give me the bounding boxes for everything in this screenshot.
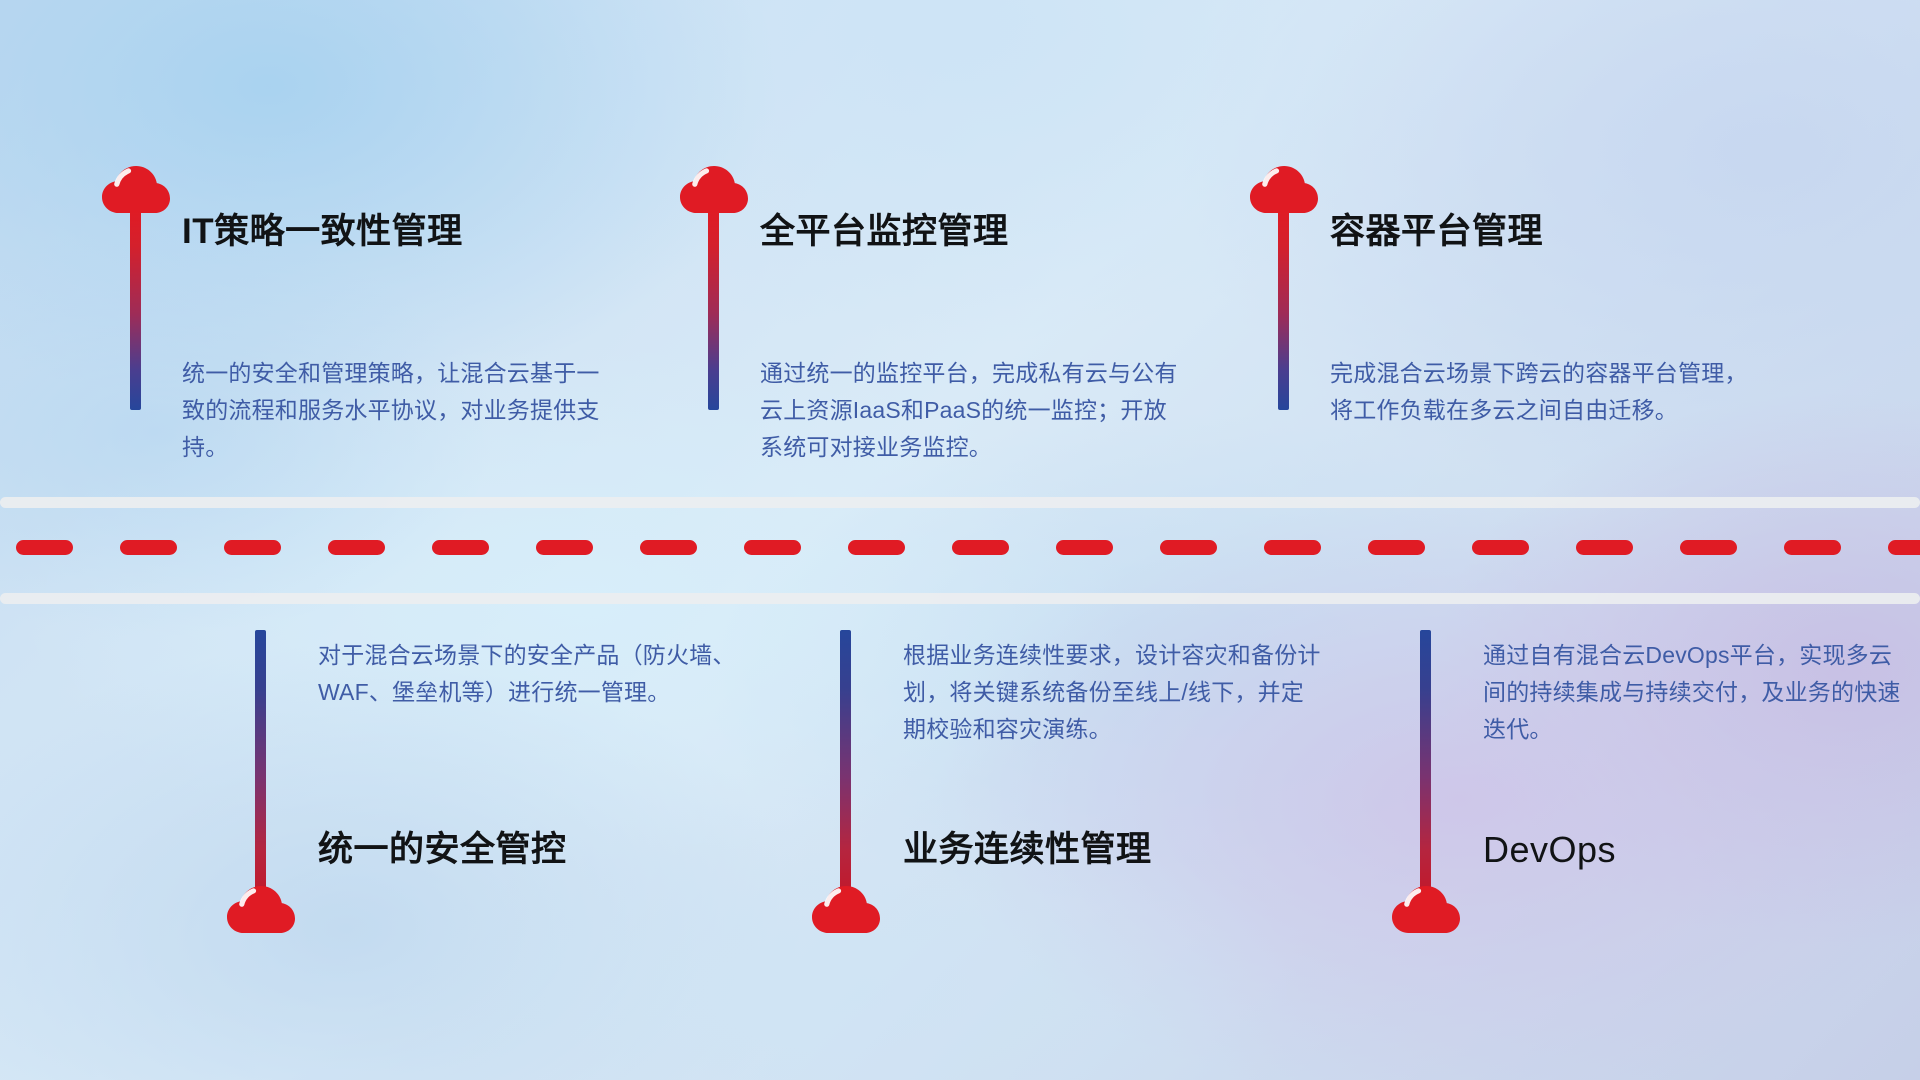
milestone-title: 全平台监控管理	[760, 214, 1009, 249]
milestone-stem	[130, 210, 141, 410]
milestone-title: 业务连续性管理	[903, 832, 1152, 867]
milestone-description: 通过统一的监控平台，完成私有云与公有云上资源IaaS和PaaS的统一监控；开放系…	[760, 355, 1180, 466]
road-dash-segment	[1680, 540, 1737, 555]
cloud-icon	[225, 880, 295, 936]
road-dash-segment	[16, 540, 73, 555]
milestone-description: 统一的安全和管理策略，让混合云基于一致的流程和服务水平协议，对业务提供支持。	[182, 355, 602, 466]
road-dash-segment	[432, 540, 489, 555]
milestone-title: 统一的安全管控	[318, 832, 567, 867]
road-dash-segment	[224, 540, 281, 555]
cloud-icon	[1248, 160, 1318, 216]
milestone-stem	[840, 630, 851, 898]
milestone-title: 容器平台管理	[1330, 214, 1543, 249]
road-dash-segment	[952, 540, 1009, 555]
cloud-icon	[100, 160, 170, 216]
road-center-dashed-line	[0, 540, 1920, 555]
road-dash-segment	[1056, 540, 1113, 555]
milestone-description: 对于混合云场景下的安全产品（防火墙、WAF、堡垒机等）进行统一管理。	[318, 637, 738, 711]
milestone-stem	[1420, 630, 1431, 898]
milestone-stem	[1278, 210, 1289, 410]
road-dash-segment	[1264, 540, 1321, 555]
cloud-icon	[810, 880, 880, 936]
milestone-stem	[708, 210, 719, 410]
milestone-description: 完成混合云场景下跨云的容器平台管理，将工作负载在多云之间自由迁移。	[1330, 355, 1750, 429]
road-dash-segment	[1160, 540, 1217, 555]
milestone-title: IT策略一致性管理	[182, 214, 463, 249]
cloud-icon	[1390, 880, 1460, 936]
road-dash-segment	[1888, 540, 1920, 555]
milestone-description: 通过自有混合云DevOps平台，实现多云间的持续集成与持续交付，及业务的快速迭代…	[1483, 637, 1903, 748]
road-dash-segment	[848, 540, 905, 555]
road-dash-segment	[536, 540, 593, 555]
milestone-description: 根据业务连续性要求，设计容灾和备份计划，将关键系统备份至线上/线下，并定期校验和…	[903, 637, 1323, 748]
road-dash-segment	[1784, 540, 1841, 555]
road-dash-segment	[1472, 540, 1529, 555]
road-edge-line-bottom	[0, 593, 1920, 604]
cloud-icon	[678, 160, 748, 216]
road-edge-line-top	[0, 497, 1920, 508]
infographic-canvas: IT策略一致性管理 统一的安全和管理策略，让混合云基于一致的流程和服务水平协议，…	[0, 0, 1920, 1080]
milestone-title: DevOps	[1483, 832, 1616, 868]
road-dash-segment	[1368, 540, 1425, 555]
road-dash-segment	[1576, 540, 1633, 555]
road-dash-segment	[744, 540, 801, 555]
road-dash-segment	[640, 540, 697, 555]
road-dash-segment	[328, 540, 385, 555]
road-dash-segment	[120, 540, 177, 555]
milestone-stem	[255, 630, 266, 898]
